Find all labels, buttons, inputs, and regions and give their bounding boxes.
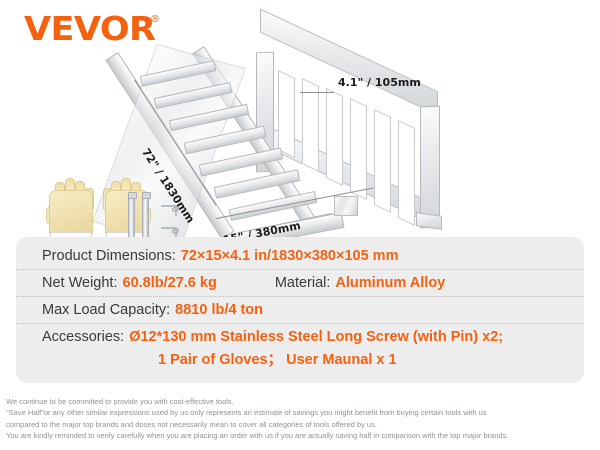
spec-row-accessories: Accessories: Ø12*130 mm Stainless Steel …: [16, 324, 584, 375]
spec-value-material: Aluminum Alloy: [335, 275, 445, 291]
spec-value-max-load: 8810 lb/4 ton: [175, 302, 263, 318]
disclaimer-line-4: You are kindly reminded to verify carefu…: [6, 430, 596, 441]
spec-label-dimensions: Product Dimensions:: [42, 248, 176, 264]
leader-line-height: [300, 92, 334, 93]
disclaimer-line-1: We continue to be committed to provide y…: [6, 396, 596, 407]
disclaimer-text: We continue to be committed to provide y…: [6, 396, 596, 442]
disclaimer-line-2: "Save Half"or any other similar expressi…: [6, 407, 596, 418]
spec-row-weight-material: Net Weight: 60.8lb/27.6 kg Material: Alu…: [16, 270, 584, 297]
specifications-panel: Product Dimensions: 72×15×4.1 in/1830×38…: [16, 237, 584, 383]
spec-value-net-weight: 60.8lb/27.6 kg: [123, 275, 217, 291]
spec-value-accessories-line2: 1 Pair of Gloves； User Maunal x 1: [158, 348, 397, 369]
spec-row-max-load: Max Load Capacity: 8810 lb/4 ton: [16, 297, 584, 324]
spec-label-max-load: Max Load Capacity:: [42, 302, 170, 318]
disclaimer-line-3: compared to the major top brands and dos…: [6, 419, 596, 430]
spec-label-accessories: Accessories:: [42, 329, 124, 345]
spec-label-material: Material:: [275, 275, 331, 291]
product-photo: 4.1" / 105mm 72" / 1830mm 15" / 380mm: [0, 28, 600, 233]
dimension-callout-height: 4.1" / 105mm: [338, 76, 421, 89]
spec-value-dimensions: 72×15×4.1 in/1830×380×105 mm: [181, 248, 399, 264]
spec-value-accessories-line1: Ø12*130 mm Stainless Steel Long Screw (w…: [129, 329, 503, 345]
spec-row-dimensions: Product Dimensions: 72×15×4.1 in/1830×38…: [16, 243, 584, 270]
spec-label-net-weight: Net Weight:: [42, 275, 118, 291]
